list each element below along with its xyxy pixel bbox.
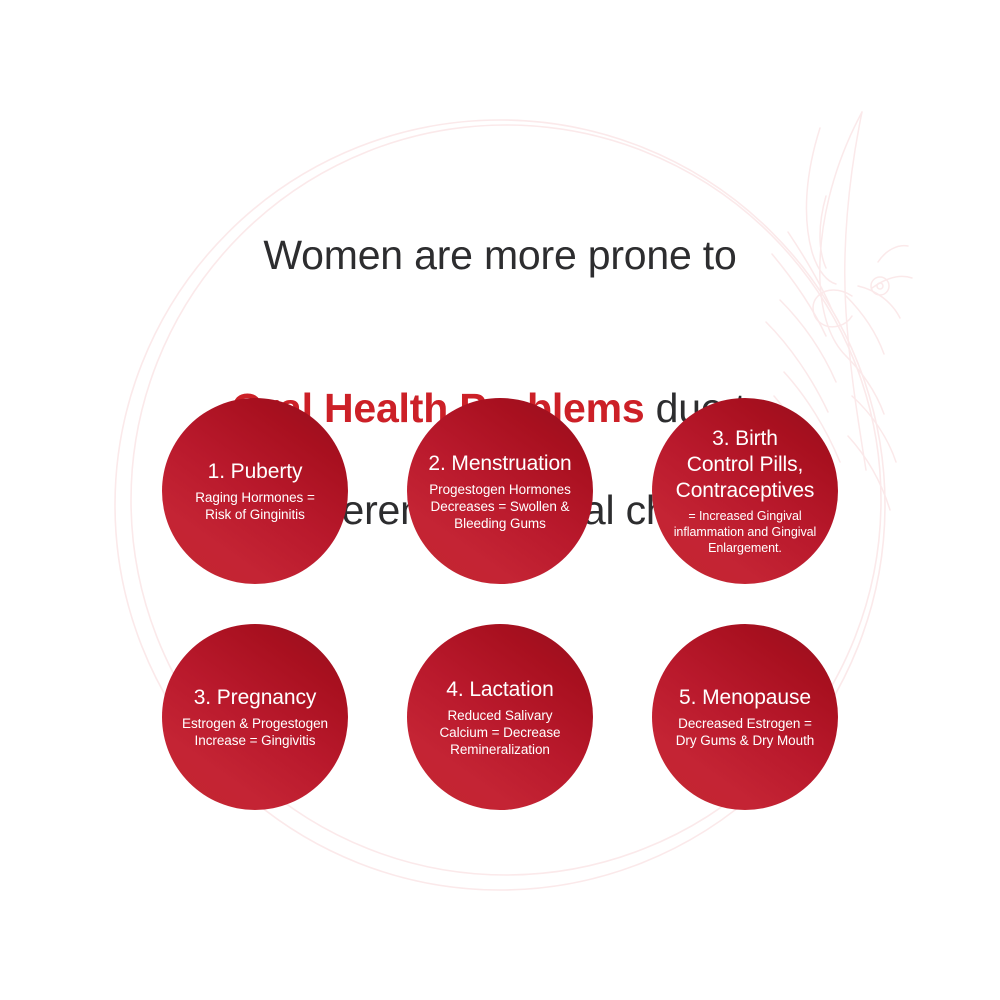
bubble-description: Progestogen Hormones Decreases = Swollen… — [429, 481, 571, 532]
bubble-birth-control-pills[interactable]: 3. Birth Control Pills, Contraceptives =… — [652, 398, 838, 584]
bubble-lactation[interactable]: 4. Lactation Reduced Salivary Calcium = … — [407, 624, 593, 810]
bubble-title: 1. Puberty — [208, 459, 303, 484]
bubble-description: Decreased Estrogen = Dry Gums & Dry Mout… — [676, 715, 815, 749]
infographic-canvas: Women are more prone to Oral Health Prob… — [0, 0, 1000, 1000]
bubble-title: 2. Menstruation — [428, 451, 571, 476]
bubble-title: 3. Pregnancy — [194, 685, 317, 710]
bubble-description: Raging Hormones = Risk of Ginginitis — [195, 489, 315, 523]
bubble-menopause[interactable]: 5. Menopause Decreased Estrogen = Dry Gu… — [652, 624, 838, 810]
bubble-pregnancy[interactable]: 3. Pregnancy Estrogen & Progestogen Incr… — [162, 624, 348, 810]
bubble-grid: 1. Puberty Raging Hormones = Risk of Gin… — [162, 398, 838, 810]
page-title-line-1: Women are more prone to — [0, 230, 1000, 281]
bubble-title: 3. Birth Control Pills, Contraceptives — [676, 426, 815, 504]
bubble-puberty[interactable]: 1. Puberty Raging Hormones = Risk of Gin… — [162, 398, 348, 584]
bubble-title: 5. Menopause — [679, 685, 811, 710]
bubble-title: 4. Lactation — [446, 677, 553, 702]
bubble-menstruation[interactable]: 2. Menstruation Progestogen Hormones Dec… — [407, 398, 593, 584]
bubble-description: Reduced Salivary Calcium = Decrease Remi… — [439, 707, 560, 758]
bubble-description: = Increased Gingival inflammation and Gi… — [674, 508, 817, 556]
bubble-description: Estrogen & Progestogen Increase = Gingiv… — [182, 715, 328, 749]
